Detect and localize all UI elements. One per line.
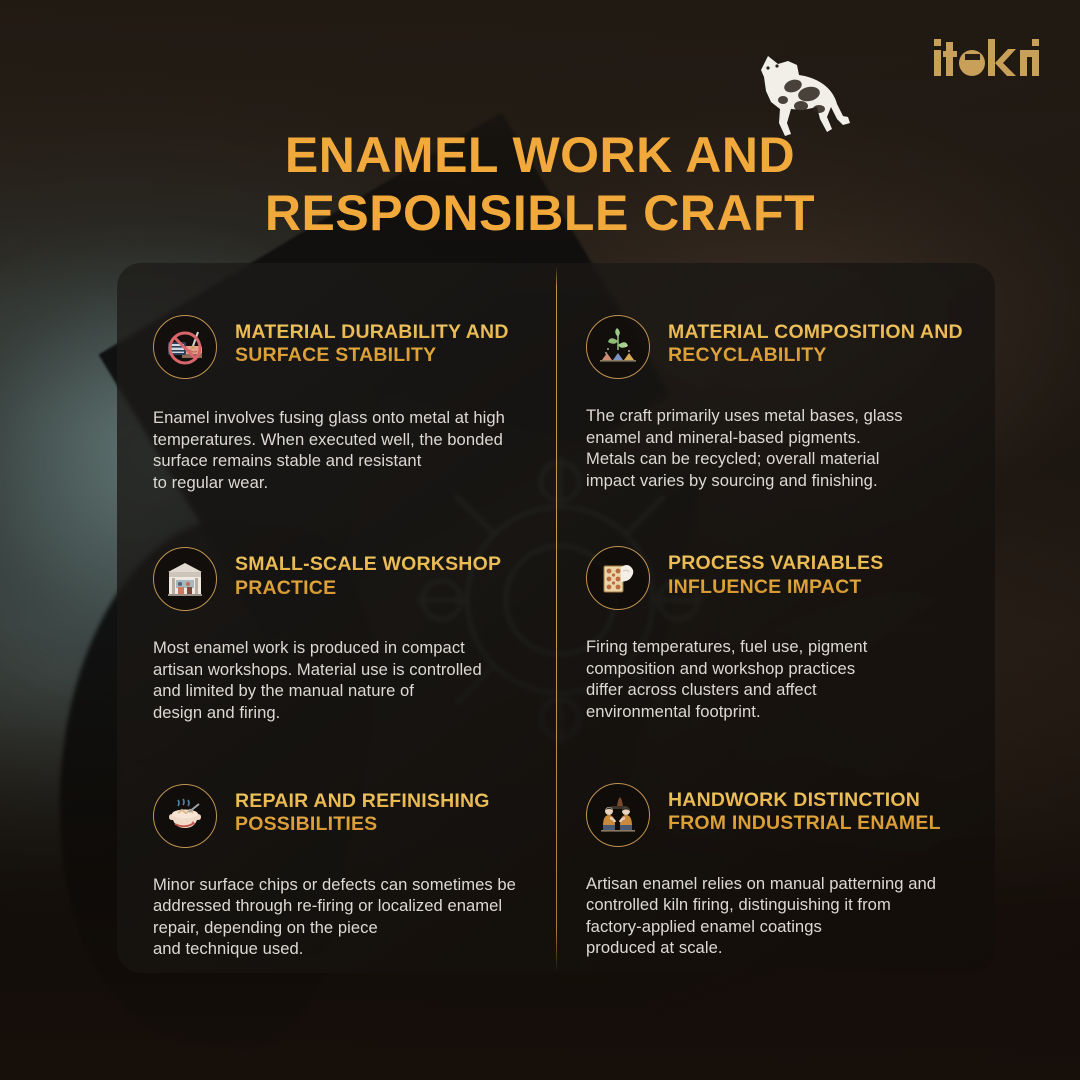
plant-sprout-pigments-icon	[586, 315, 650, 379]
feature-header: HANDWORK DISTINCTION FROM INDUSTRIAL ENA…	[586, 783, 973, 847]
hand-holding-patterned-block-icon	[586, 546, 650, 610]
workshop-shop-glyph	[162, 556, 208, 602]
feature-body: The craft primarily uses metal bases, gl…	[586, 405, 973, 491]
page-title-line-2: RESPONSIBLE CRAFT	[0, 184, 1080, 243]
feature-item: SMALL-SCALE WORKSHOP PRACTICE Most ename…	[153, 547, 540, 723]
feature-item: HANDWORK DISTINCTION FROM INDUSTRIAL ENA…	[586, 783, 973, 959]
artisan-left	[603, 807, 615, 830]
feature-item: PROCESS VARIABLES INFLUENCE IMPACT Firin…	[586, 546, 973, 722]
poster-canvas: itokri ENAMEL WORK AND RESPONSIBLE CRAFT	[0, 0, 1080, 1080]
feature-title: REPAIR AND REFINISHING POSSIBILITIES	[235, 790, 540, 837]
feature-body: Firing temperatures, fuel use, pigment c…	[586, 636, 973, 722]
columns-wrapper: MATERIAL DURABILITY AND SURFACE STABILIT…	[117, 263, 995, 973]
feature-item: REPAIR AND REFINISHING POSSIBILITIES Min…	[153, 784, 540, 960]
two-artisans-working-icon	[586, 783, 650, 847]
feature-item: MATERIAL COMPOSITION AND RECYCLABILITY T…	[586, 315, 973, 491]
feature-body: Most enamel work is produced in compact …	[153, 637, 540, 723]
feature-title: SMALL-SCALE WORKSHOP PRACTICE	[235, 553, 540, 600]
two-artisans-working-glyph	[595, 792, 641, 838]
feature-title: PROCESS VARIABLES INFLUENCE IMPACT	[668, 552, 973, 599]
no-abrasion-surface-icon	[153, 315, 217, 379]
left-column: MATERIAL DURABILITY AND SURFACE STABILIT…	[117, 263, 558, 973]
itokri-wordmark-icon	[932, 36, 1042, 80]
no-abrasion-surface-glyph	[162, 324, 208, 370]
workshop-shop-icon	[153, 547, 217, 611]
hand-holding-patterned-block-glyph	[595, 555, 641, 601]
feature-body: Enamel involves fusing glass onto metal …	[153, 407, 540, 493]
feature-header: SMALL-SCALE WORKSHOP PRACTICE	[153, 547, 540, 611]
brand-logo: itokri	[932, 36, 1042, 80]
feature-header: MATERIAL COMPOSITION AND RECYCLABILITY	[586, 315, 973, 379]
plant-sprout-pigments-glyph	[595, 324, 641, 370]
page-title: ENAMEL WORK AND RESPONSIBLE CRAFT	[0, 126, 1080, 243]
feature-body: Artisan enamel relies on manual patterni…	[586, 873, 973, 959]
feature-header: MATERIAL DURABILITY AND SURFACE STABILIT…	[153, 315, 540, 379]
feature-header: PROCESS VARIABLES INFLUENCE IMPACT	[586, 546, 973, 610]
page-title-line-1: ENAMEL WORK AND	[0, 126, 1080, 185]
feature-header: REPAIR AND REFINISHING POSSIBILITIES	[153, 784, 540, 848]
artisan-right	[620, 807, 632, 830]
feature-item: MATERIAL DURABILITY AND SURFACE STABILIT…	[153, 315, 540, 493]
feature-title: MATERIAL COMPOSITION AND RECYCLABILITY	[668, 321, 973, 368]
feature-body: Minor surface chips or defects can somet…	[153, 874, 540, 960]
feature-title: HANDWORK DISTINCTION FROM INDUSTRIAL ENA…	[668, 789, 973, 836]
content-panel: MATERIAL DURABILITY AND SURFACE STABILIT…	[117, 263, 995, 973]
steaming-pot-glyph	[162, 793, 208, 839]
feature-title: MATERIAL DURABILITY AND SURFACE STABILIT…	[235, 321, 540, 368]
steaming-pot-icon	[153, 784, 217, 848]
cow-illustration-icon	[735, 44, 855, 149]
right-column: MATERIAL COMPOSITION AND RECYCLABILITY T…	[558, 263, 995, 973]
